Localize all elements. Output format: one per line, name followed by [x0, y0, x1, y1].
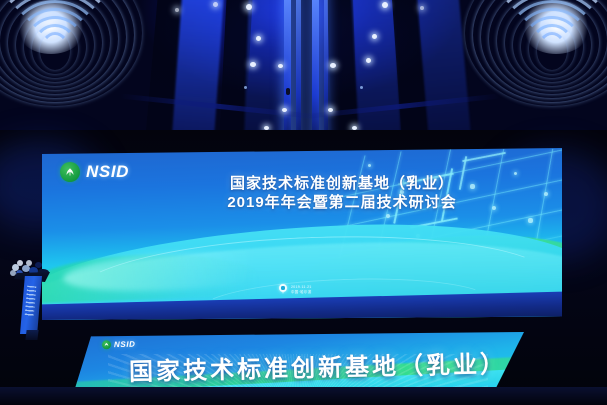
ceiling-spotlight	[256, 36, 261, 41]
screen-title-line-2: 2019年年会暨第二届技术研讨会	[182, 193, 502, 212]
location-pin-icon	[279, 284, 287, 295]
screen-title-line-1: 国家技术标准创新基地（乳业）	[182, 174, 502, 193]
nsid-leaf-circle-icon	[60, 162, 80, 182]
foreground-floor	[0, 387, 607, 405]
ceiling	[0, 0, 607, 150]
ceiling-spotlight	[330, 63, 336, 68]
ceiling-spotlight	[382, 2, 388, 8]
chandelier-left	[0, 0, 148, 96]
lectern	[12, 262, 56, 340]
ceiling-spotlight-small	[360, 86, 363, 89]
ceiling-light-strip	[324, 0, 328, 150]
screen-venue-footer: 2019.11.21 中国·哈尔滨	[279, 284, 312, 295]
ceiling-spotlight	[213, 2, 218, 7]
nsid-leaf-circle-icon	[102, 340, 111, 349]
nsid-wordmark: NSID	[86, 162, 129, 182]
venue-place: 中国·哈尔滨	[291, 290, 312, 294]
ceiling-light-strip	[296, 0, 301, 150]
ceiling-spotlight	[328, 108, 333, 112]
lectern-base	[25, 330, 38, 340]
ceiling-spotlight	[420, 6, 424, 10]
main-led-screen: NSID 国家技术标准创新基地（乳业） 2019年年会暨第二届技术研讨会 201…	[42, 148, 562, 320]
ceiling-spotlight	[282, 108, 287, 112]
ceiling-spotlight	[246, 4, 252, 10]
ceiling-light-strip	[312, 0, 319, 150]
screen-title-block: 国家技术标准创新基地（乳业） 2019年年会暨第二届技术研讨会	[182, 174, 502, 212]
nsid-wordmark: NSID	[114, 340, 136, 349]
ceiling-spotlight-small	[244, 86, 247, 89]
ceiling-spotlight	[372, 34, 377, 39]
conference-stage-photo: NSID 国家技术标准创新基地（乳业） 2019年年会暨第二届技术研讨会 201…	[0, 0, 607, 405]
nsid-logo: NSID	[60, 162, 129, 182]
banner-nsid-logo: NSID	[102, 340, 136, 350]
ceiling-spotlight	[366, 58, 371, 63]
ceiling-light-strip	[284, 0, 291, 150]
venue-date: 2019.11.21	[291, 285, 312, 289]
chandelier-right	[459, 0, 607, 96]
ceiling-spotlight	[175, 8, 179, 12]
ceiling-fixture	[286, 88, 290, 95]
ceiling-spotlight	[278, 64, 283, 68]
ceiling-spotlight	[250, 62, 256, 67]
